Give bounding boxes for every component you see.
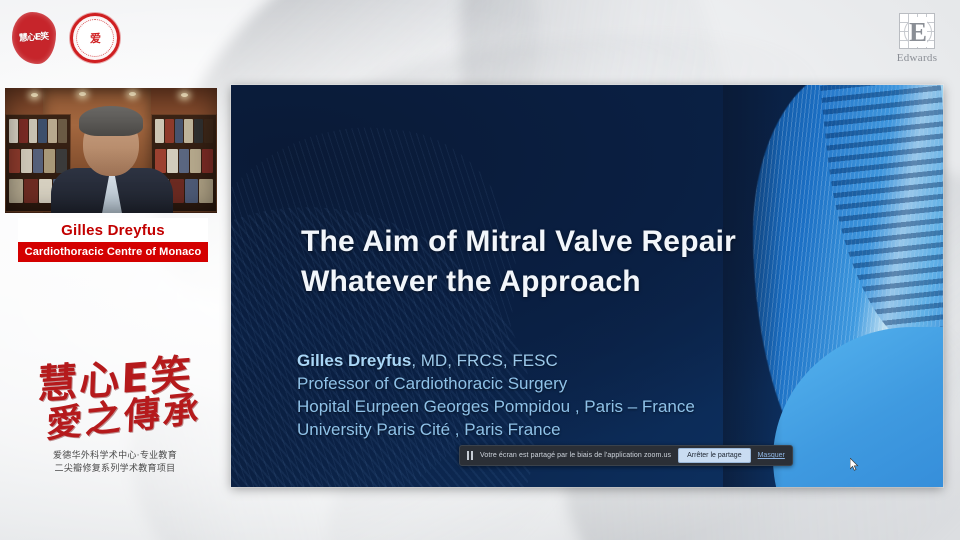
- hide-bar-link[interactable]: Masquer: [758, 452, 785, 459]
- branding-subtitle-2: 二尖瓣修复系列学术教育项目: [10, 463, 220, 476]
- slide-author-line-3: Hopital Eurpeen Georges Pompidou , Paris…: [297, 395, 717, 418]
- stop-sharing-button[interactable]: Arrêter le partage: [678, 448, 750, 463]
- screen-share-message: Votre écran est partagé par le biais de …: [480, 452, 671, 459]
- pause-icon[interactable]: [467, 451, 473, 460]
- slide-author-name: Gilles Dreyfus: [297, 351, 411, 370]
- mouse-cursor-icon: [850, 458, 859, 471]
- branding-subtitle-1: 爱德华外科学术中心·专业教育: [10, 450, 220, 463]
- speaker-nameplate: Gilles Dreyfus Cardiothoracic Centre of …: [18, 218, 208, 262]
- speaker-name: Gilles Dreyfus: [18, 218, 208, 242]
- edwards-letter-e: E: [909, 17, 927, 47]
- speaker-video-feed[interactable]: [5, 88, 217, 213]
- slide-title: The Aim of Mitral Valve Repair Whatever …: [301, 222, 821, 302]
- screen-share-bar[interactable]: Votre écran est partagé par le biais de …: [459, 445, 793, 466]
- program-branding: 慧心E笑 愛之傳承 爱德华外科学术中心·专业教育 二尖瓣修复系列学术教育项目: [10, 358, 220, 476]
- edwards-wordmark: Edwards: [888, 52, 946, 64]
- slide-author-credentials: , MD, FRCS, FESC: [411, 351, 557, 370]
- circular-seal-icon: 爱: [70, 13, 120, 63]
- slide-author-block: Gilles Dreyfus, MD, FRCS, FESC Professor…: [297, 349, 717, 441]
- speaker-affiliation: Cardiothoracic Centre of Monaco: [18, 242, 208, 262]
- seal-stamp-label: 慧心E笑: [19, 32, 49, 43]
- slide-author-line-4: University Paris Cité , Paris France: [297, 418, 717, 441]
- circular-seal-label: 爱: [76, 19, 114, 57]
- program-logos: 慧心E笑 爱: [8, 10, 128, 68]
- presentation-slide[interactable]: The Aim of Mitral Valve Repair Whatever …: [231, 85, 943, 487]
- slide-author-line-2: Professor of Cardiothoracic Surgery: [297, 372, 717, 395]
- edwards-logo: E Edwards: [888, 13, 946, 64]
- seal-stamp-icon: 慧心E笑: [12, 12, 56, 64]
- video-vignette: [5, 88, 217, 213]
- slide-title-line-2: Whatever the Approach: [301, 262, 821, 302]
- edwards-mark-icon: E: [899, 13, 935, 49]
- slide-title-line-1: The Aim of Mitral Valve Repair: [301, 222, 821, 262]
- slide-author-name-row: Gilles Dreyfus, MD, FRCS, FESC: [297, 349, 717, 372]
